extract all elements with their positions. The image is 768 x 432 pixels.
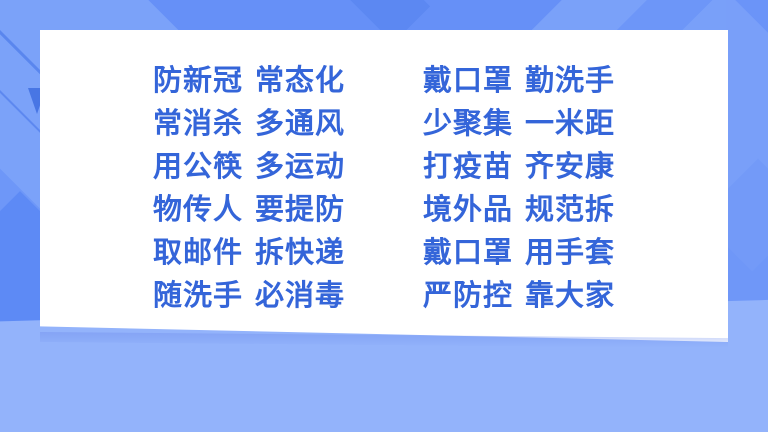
slogan-segment-first: 常消杀 [153, 104, 243, 143]
slogan-column-left: 防新冠常态化 常消杀多通风 用公筷多运动 物传人要提防 取邮件拆快递 随洗手必消… [153, 61, 345, 315]
slogan-segment-first: 少聚集 [423, 104, 513, 143]
slogan-segment-first: 打疫苗 [423, 147, 513, 186]
slogan-segment-second: 多运动 [255, 147, 345, 186]
slogan-segment-second: 拆快递 [255, 233, 345, 272]
slogan-line: 常消杀多通风 [153, 104, 345, 143]
slogan-segment-first: 境外品 [423, 190, 513, 229]
slogan-line: 打疫苗齐安康 [423, 147, 615, 186]
slogan-segment-first: 戴口罩 [423, 233, 513, 272]
slogan-segment-second: 常态化 [255, 61, 345, 100]
slogan-segment-second: 要提防 [255, 190, 345, 229]
slogan-line: 防新冠常态化 [153, 61, 345, 100]
slogan-segment-second: 必消毒 [255, 276, 345, 315]
slogan-line: 戴口罩勤洗手 [423, 61, 615, 100]
poster-canvas: 防新冠常态化 常消杀多通风 用公筷多运动 物传人要提防 取邮件拆快递 随洗手必消… [0, 0, 768, 432]
slogan-segment-first: 用公筷 [153, 147, 243, 186]
slogan-segment-first: 防新冠 [153, 61, 243, 100]
slogan-segment-first: 取邮件 [153, 233, 243, 272]
slogan-segment-second: 规范拆 [525, 190, 615, 229]
slogan-line: 严防控靠大家 [423, 276, 615, 315]
slogan-segment-first: 物传人 [153, 190, 243, 229]
slogan-line: 随洗手必消毒 [153, 276, 345, 315]
slogan-segment-second: 靠大家 [525, 276, 615, 315]
slogan-segment-second: 一米距 [525, 104, 615, 143]
slogan-segment-second: 多通风 [255, 104, 345, 143]
slogan-line: 取邮件拆快递 [153, 233, 345, 272]
slogan-segment-first: 随洗手 [153, 276, 243, 315]
slogan-column-right: 戴口罩勤洗手 少聚集一米距 打疫苗齐安康 境外品规范拆 戴口罩用手套 严防控靠大… [423, 61, 615, 315]
slogan-line: 境外品规范拆 [423, 190, 615, 229]
slogan-line: 戴口罩用手套 [423, 233, 615, 272]
slogan-line: 少聚集一米距 [423, 104, 615, 143]
slogan-segment-first: 戴口罩 [423, 61, 513, 100]
slogan-segment-second: 齐安康 [525, 147, 615, 186]
slogan-segment-second: 勤洗手 [525, 61, 615, 100]
slogan-segment-first: 严防控 [423, 276, 513, 315]
slogan-grid: 防新冠常态化 常消杀多通风 用公筷多运动 物传人要提防 取邮件拆快递 随洗手必消… [40, 30, 728, 330]
slogan-line: 物传人要提防 [153, 190, 345, 229]
slogan-segment-second: 用手套 [525, 233, 615, 272]
slogan-line: 用公筷多运动 [153, 147, 345, 186]
